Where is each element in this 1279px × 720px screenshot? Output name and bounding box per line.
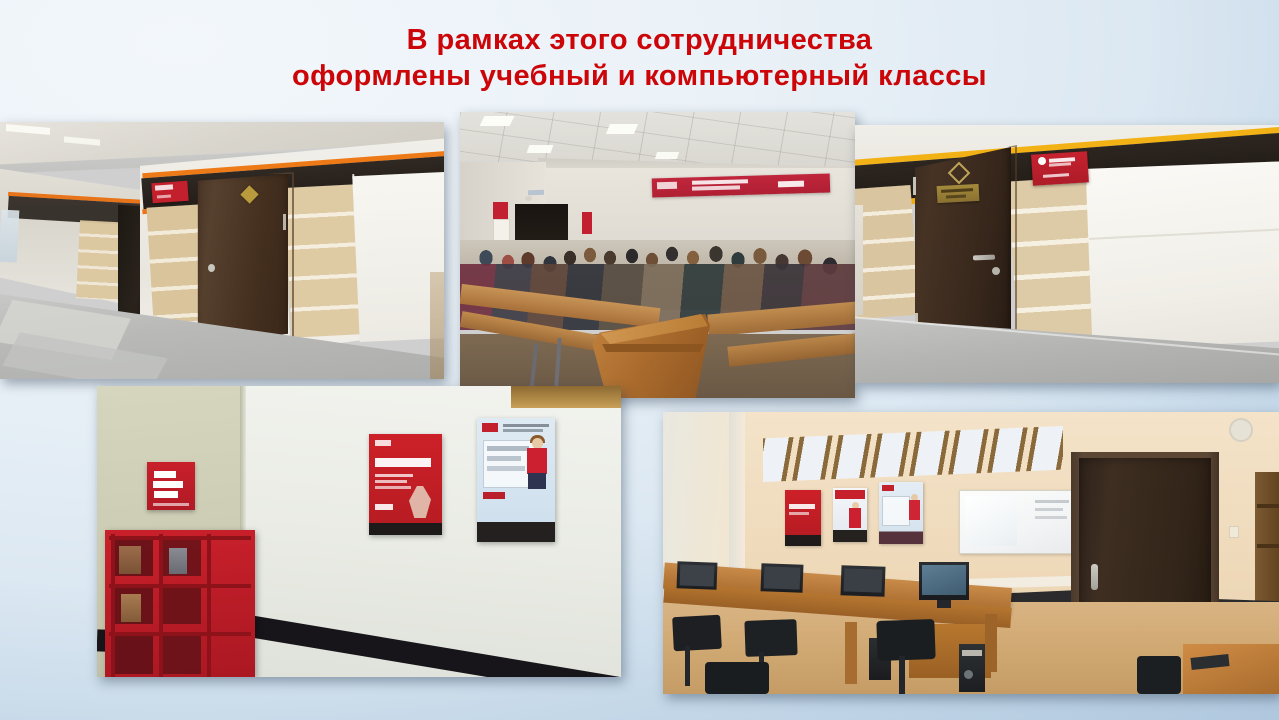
- poster-text-line: [154, 491, 178, 498]
- far-window-glass: [0, 210, 19, 263]
- poster-text-line: [375, 480, 407, 483]
- photo-classroom-content: [460, 112, 855, 398]
- wall-speaker: [528, 190, 544, 196]
- door-handle: [208, 264, 215, 272]
- poster-headline-text: [375, 458, 431, 467]
- photo-classroom-students[interactable]: [460, 112, 855, 398]
- poster-header-band: [835, 490, 865, 499]
- photo-computer-lab[interactable]: [663, 412, 1279, 694]
- desk-leg: [845, 622, 857, 684]
- whiteboard-text-line: [1035, 500, 1069, 503]
- poster-screenshot-row: [487, 456, 521, 461]
- poster-logo-mark: [882, 485, 894, 491]
- poster-logo-mark: [482, 423, 498, 432]
- door-handle: [973, 255, 995, 261]
- poster-text-line: [154, 471, 176, 478]
- poster-figure-jacket: [849, 508, 861, 528]
- wood-wall-panel: [855, 185, 919, 319]
- photo-corridor-orange-stripe[interactable]: [0, 122, 444, 379]
- door-hinge: [913, 177, 916, 195]
- ceiling-light-icon: [480, 116, 515, 126]
- poster-figure-skirt: [528, 473, 546, 489]
- wood-wall-panel: [284, 184, 364, 338]
- photo-corridor-yellow-stripe[interactable]: [855, 125, 1279, 383]
- ceiling-light-icon: [606, 124, 638, 134]
- wall-switch: [1229, 526, 1239, 538]
- bookcase-frame-grid: [109, 534, 251, 677]
- cabinet-shelf: [1257, 544, 1279, 548]
- office-chair: [744, 619, 797, 657]
- banner-url-text: [778, 181, 804, 188]
- monitor-screen: [680, 564, 715, 586]
- slide-canvas: В рамках этого сотрудничества оформлены …: [0, 0, 1279, 720]
- smoke-detector-icon: [1229, 418, 1253, 442]
- photo-corridor-yellow-content: [855, 125, 1279, 383]
- gold-door-plaque: [937, 184, 980, 203]
- poster-logo-mark: [375, 440, 391, 446]
- desk-leg: [985, 614, 997, 672]
- photo-bookcrossing-content: [97, 386, 621, 677]
- wood-wall-panel: [1008, 177, 1096, 348]
- poster-headline-text: [789, 504, 815, 509]
- whiteboard-text-line: [1035, 508, 1063, 511]
- door-lock-icon: [992, 267, 1000, 275]
- poster-screenshot-row: [487, 446, 529, 451]
- title-line-2: оформлены учебный и компьютерный классы: [0, 58, 1279, 94]
- chair-leg: [685, 646, 690, 686]
- white-wall-panel: [1086, 161, 1279, 348]
- title-line-1: В рамках этого сотрудничества: [0, 22, 1279, 58]
- poster-text-line: [375, 474, 413, 477]
- poster-text-line: [375, 486, 411, 489]
- poster-screenshot-row: [487, 466, 525, 471]
- poster-figure-jacket: [527, 448, 547, 474]
- poster-footer-text: [153, 503, 189, 506]
- door-hinge: [283, 214, 286, 230]
- podium-lip: [600, 344, 704, 352]
- office-chair: [672, 615, 722, 651]
- office-chair: [705, 662, 769, 694]
- poster-screenshot-box: [882, 496, 910, 526]
- red-poster: [369, 434, 442, 535]
- poster-figure-jacket: [909, 500, 920, 520]
- ceiling-light-icon: [527, 145, 554, 153]
- poster-text-line: [503, 424, 549, 427]
- banner-logo-mark: [657, 182, 677, 190]
- photo-computer-lab-content: [663, 412, 1279, 694]
- page-title: В рамках этого сотрудничества оформлены …: [0, 22, 1279, 94]
- poster-text-line: [503, 429, 543, 432]
- red-wall-poster: [582, 212, 592, 234]
- poster-text-line: [153, 481, 183, 488]
- wall-column: [729, 412, 745, 582]
- wooden-cabinet: [1255, 472, 1279, 604]
- poster-url-text: [375, 504, 393, 510]
- whiteboard-glare: [965, 496, 1017, 546]
- office-chair: [1137, 656, 1181, 694]
- chair-leg: [899, 656, 905, 694]
- ceiling-light-icon: [655, 152, 679, 159]
- monitor-screen: [922, 565, 966, 595]
- photo-bookcrossing-hall[interactable]: [97, 386, 621, 677]
- poster-url-text: [483, 492, 505, 499]
- photo-corridor-orange-content: [0, 122, 444, 379]
- whiteboard-text-line: [1035, 516, 1067, 519]
- left-wall-edge: [855, 205, 863, 315]
- right-edge-object: [430, 272, 444, 379]
- photo-overlap-corner: [511, 386, 621, 408]
- office-chair: [876, 619, 935, 661]
- monitor-screen: [764, 566, 801, 589]
- tower-power-button: [964, 670, 973, 679]
- red-poster: [785, 490, 821, 546]
- monitor-stand: [937, 600, 951, 608]
- cabinet-shelf: [1257, 504, 1279, 508]
- poster-text-line: [789, 512, 809, 515]
- door-handle: [1091, 564, 1098, 590]
- monitor-screen: [844, 568, 883, 592]
- tower-drive-bay: [962, 650, 982, 656]
- smoke-detector-icon: [525, 196, 532, 201]
